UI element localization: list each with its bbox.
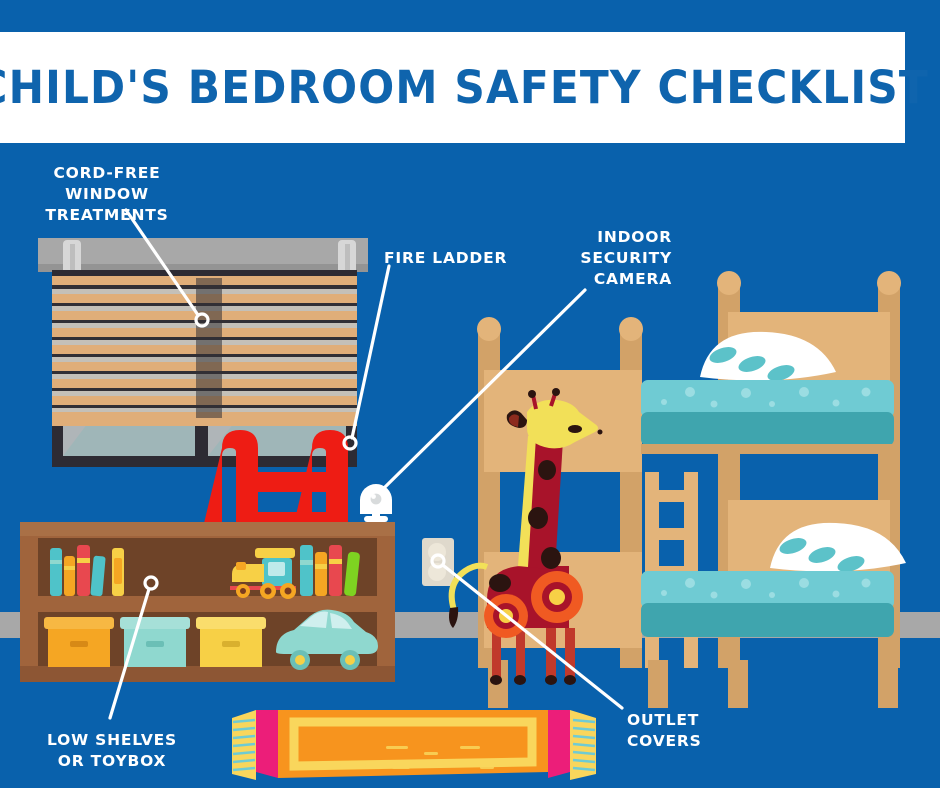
mattress-top-base <box>641 412 894 446</box>
giraffe-leg-2 <box>516 628 525 680</box>
rug-stripe-right <box>548 710 570 778</box>
bunk-ladder-rung-2 <box>645 528 698 540</box>
books-left-group <box>50 545 124 596</box>
callout-label-cord-free-window-treatments: CORD-FREE WINDOW TREATMENTS <box>12 163 202 226</box>
callout-label-low-shelves-or-toybox: LOW SHELVES OR TOYBOX <box>30 730 194 772</box>
bunk-ladder-rung-1 <box>645 490 698 502</box>
bed-post-knob-front-right <box>619 317 643 341</box>
bunk-support-top <box>641 444 894 454</box>
giraffe-wheel-right-hub <box>549 589 565 605</box>
cordless-blind-slats <box>52 276 357 421</box>
giraffe-leg-4 <box>565 628 575 680</box>
ladder-rung-1 <box>236 472 326 492</box>
giraffe-horn-knob-2 <box>552 388 560 396</box>
bed-post-knob-rear-right <box>877 271 901 295</box>
bookcase-bottom-rail <box>20 666 395 682</box>
callout-label-indoor-security-camera: INDOOR SECURITY CAMERA <box>528 227 672 290</box>
giraffe-horn-knob-1 <box>528 390 536 398</box>
page-title: CHILD'S BEDROOM SAFETY CHECKLIST <box>0 61 929 114</box>
storage-bin-orange <box>44 617 114 667</box>
bed-leg-mid <box>728 660 748 708</box>
bed-leg-left <box>648 660 668 708</box>
area-rug <box>232 710 596 780</box>
storage-bin-yellow <box>196 617 266 667</box>
bookcase-middle-shelf <box>38 596 377 612</box>
window-with-cordless-blinds <box>38 238 368 467</box>
mattress-bottom-base <box>641 603 894 637</box>
electrical-outlet-cover <box>422 538 454 586</box>
bed-post-knob-rear-left <box>717 271 741 295</box>
giraffe-hoof-4 <box>564 675 576 685</box>
bed-leg-right <box>878 660 898 708</box>
giraffe-hoof-1 <box>490 675 502 685</box>
bookcase-top-rail <box>20 522 395 536</box>
rug-stripe-left <box>256 710 278 778</box>
giraffe-hoof-2 <box>514 675 526 685</box>
giraffe-hoof-3 <box>545 675 557 685</box>
blind-bottom-rail <box>52 418 357 426</box>
storage-bin-teal <box>120 617 190 667</box>
callout-label-fire-ladder: FIRE LADDER <box>384 248 507 269</box>
giraffe-eye <box>568 425 582 433</box>
low-shelf-bookcase <box>20 522 395 682</box>
infographic-poster: CHILD'S BEDROOM SAFETY CHECKLIST CORD-FR… <box>0 0 940 788</box>
giraffe-nostril <box>598 430 603 435</box>
bed-post-knob-front-left <box>477 317 501 341</box>
title-band: CHILD'S BEDROOM SAFETY CHECKLIST <box>0 32 905 143</box>
books-right-group <box>300 545 360 597</box>
callout-label-outlet-covers: OUTLET COVERS <box>627 710 702 752</box>
